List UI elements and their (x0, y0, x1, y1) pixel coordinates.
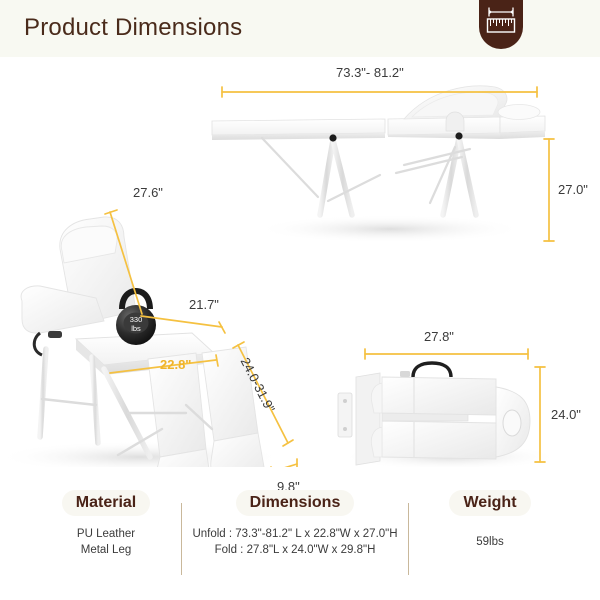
spec-value-material-2: Metal Leg (46, 542, 166, 558)
label-backrest-height: 27.6" (133, 185, 163, 200)
column-divider-1 (181, 503, 182, 575)
spec-heading-dimensions: Dimensions (236, 490, 355, 516)
page-header: Product Dimensions (0, 0, 600, 57)
dimension-line-folded-width (365, 349, 528, 359)
illustration-area: 330 lbs (0, 57, 600, 467)
column-divider-2 (408, 503, 409, 575)
folded-table-view (338, 363, 560, 467)
spec-column-material: Material PU Leather Metal Leg (46, 490, 166, 558)
label-folded-width: 27.8" (424, 329, 454, 344)
label-folded-height: 24.0" (551, 407, 581, 422)
product-dimensions-page: Product Dimensions (0, 0, 600, 600)
svg-text:lbs: lbs (131, 324, 141, 333)
label-table-height: 27.0" (558, 182, 588, 197)
chair-reclined-view: 330 lbs (0, 217, 285, 467)
spec-column-dimensions: Dimensions Unfold : 73.3"-81.2" L x 22.8… (190, 490, 400, 558)
spec-heading-material: Material (62, 490, 150, 516)
spec-table: Material PU Leather Metal Leg Dimensions… (0, 490, 600, 590)
spec-value-material-1: PU Leather (46, 526, 166, 542)
ruler-badge-icon (479, 0, 523, 49)
spec-value-weight: 59lbs (420, 534, 560, 550)
dimension-line-table-height (544, 139, 554, 241)
dimension-line-folded-height (535, 367, 545, 462)
label-seat-depth: 21.7" (189, 297, 219, 312)
spec-value-dimensions-fold: Fold : 27.8"L x 24.0"W x 29.8"H (190, 542, 400, 558)
spec-heading-weight: Weight (449, 490, 530, 516)
spec-value-dimensions-unfold: Unfold : 73.3"-81.2" L x 22.8"W x 27.0"H (190, 526, 400, 542)
spec-column-weight: Weight 59lbs (420, 490, 560, 550)
massage-table-side-view (212, 86, 545, 243)
label-seat-width: 22.8" (160, 357, 191, 372)
label-table-length: 73.3"- 81.2" (336, 65, 404, 80)
page-title: Product Dimensions (24, 14, 242, 42)
